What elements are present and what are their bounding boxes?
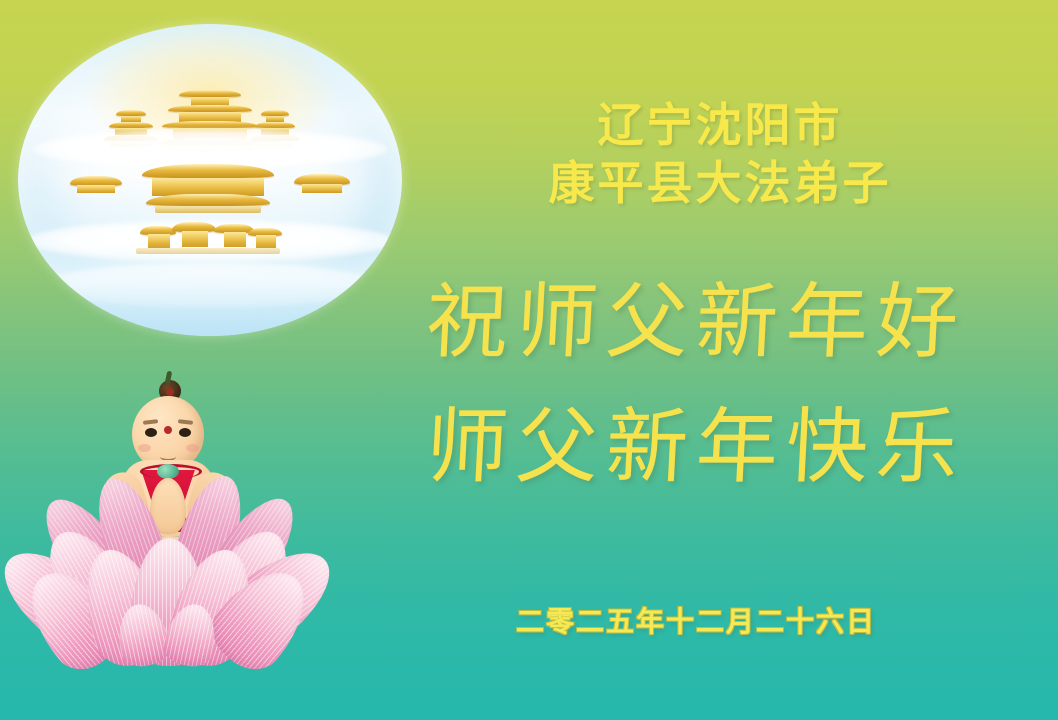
celestial-palace-bubble bbox=[18, 24, 402, 336]
child-on-lotus bbox=[14, 368, 322, 670]
greeting-line-2: 师父新年快乐 bbox=[357, 400, 1034, 496]
header-line-2: 康平县大法弟子 bbox=[400, 154, 1040, 212]
jade-pendant bbox=[157, 464, 179, 479]
topknot-band bbox=[166, 388, 174, 396]
cheek-right bbox=[186, 444, 199, 452]
pagoda-right-hall bbox=[294, 174, 350, 198]
cloud-band bbox=[33, 129, 386, 169]
pagoda-left-hall bbox=[70, 176, 122, 198]
greeting-header: 辽宁沈阳市 康平县大法弟子 bbox=[400, 96, 1040, 212]
cheek-left bbox=[138, 444, 151, 452]
pagoda-center-hall bbox=[142, 164, 274, 218]
forehead-dot bbox=[164, 426, 172, 434]
bubble-lower-haze bbox=[18, 244, 402, 336]
greeting-line-1: 祝师父新年好 bbox=[357, 275, 1034, 371]
eye-left bbox=[145, 428, 157, 437]
greeting-card: 辽宁沈阳市 康平县大法弟子 祝师父新年好 师父新年快乐 二零二五年十二月二十六日 bbox=[0, 0, 1058, 720]
greeting-date: 二零二五年十二月二十六日 bbox=[360, 600, 1032, 640]
eye-right bbox=[179, 428, 191, 437]
header-line-1: 辽宁沈阳市 bbox=[400, 96, 1040, 154]
